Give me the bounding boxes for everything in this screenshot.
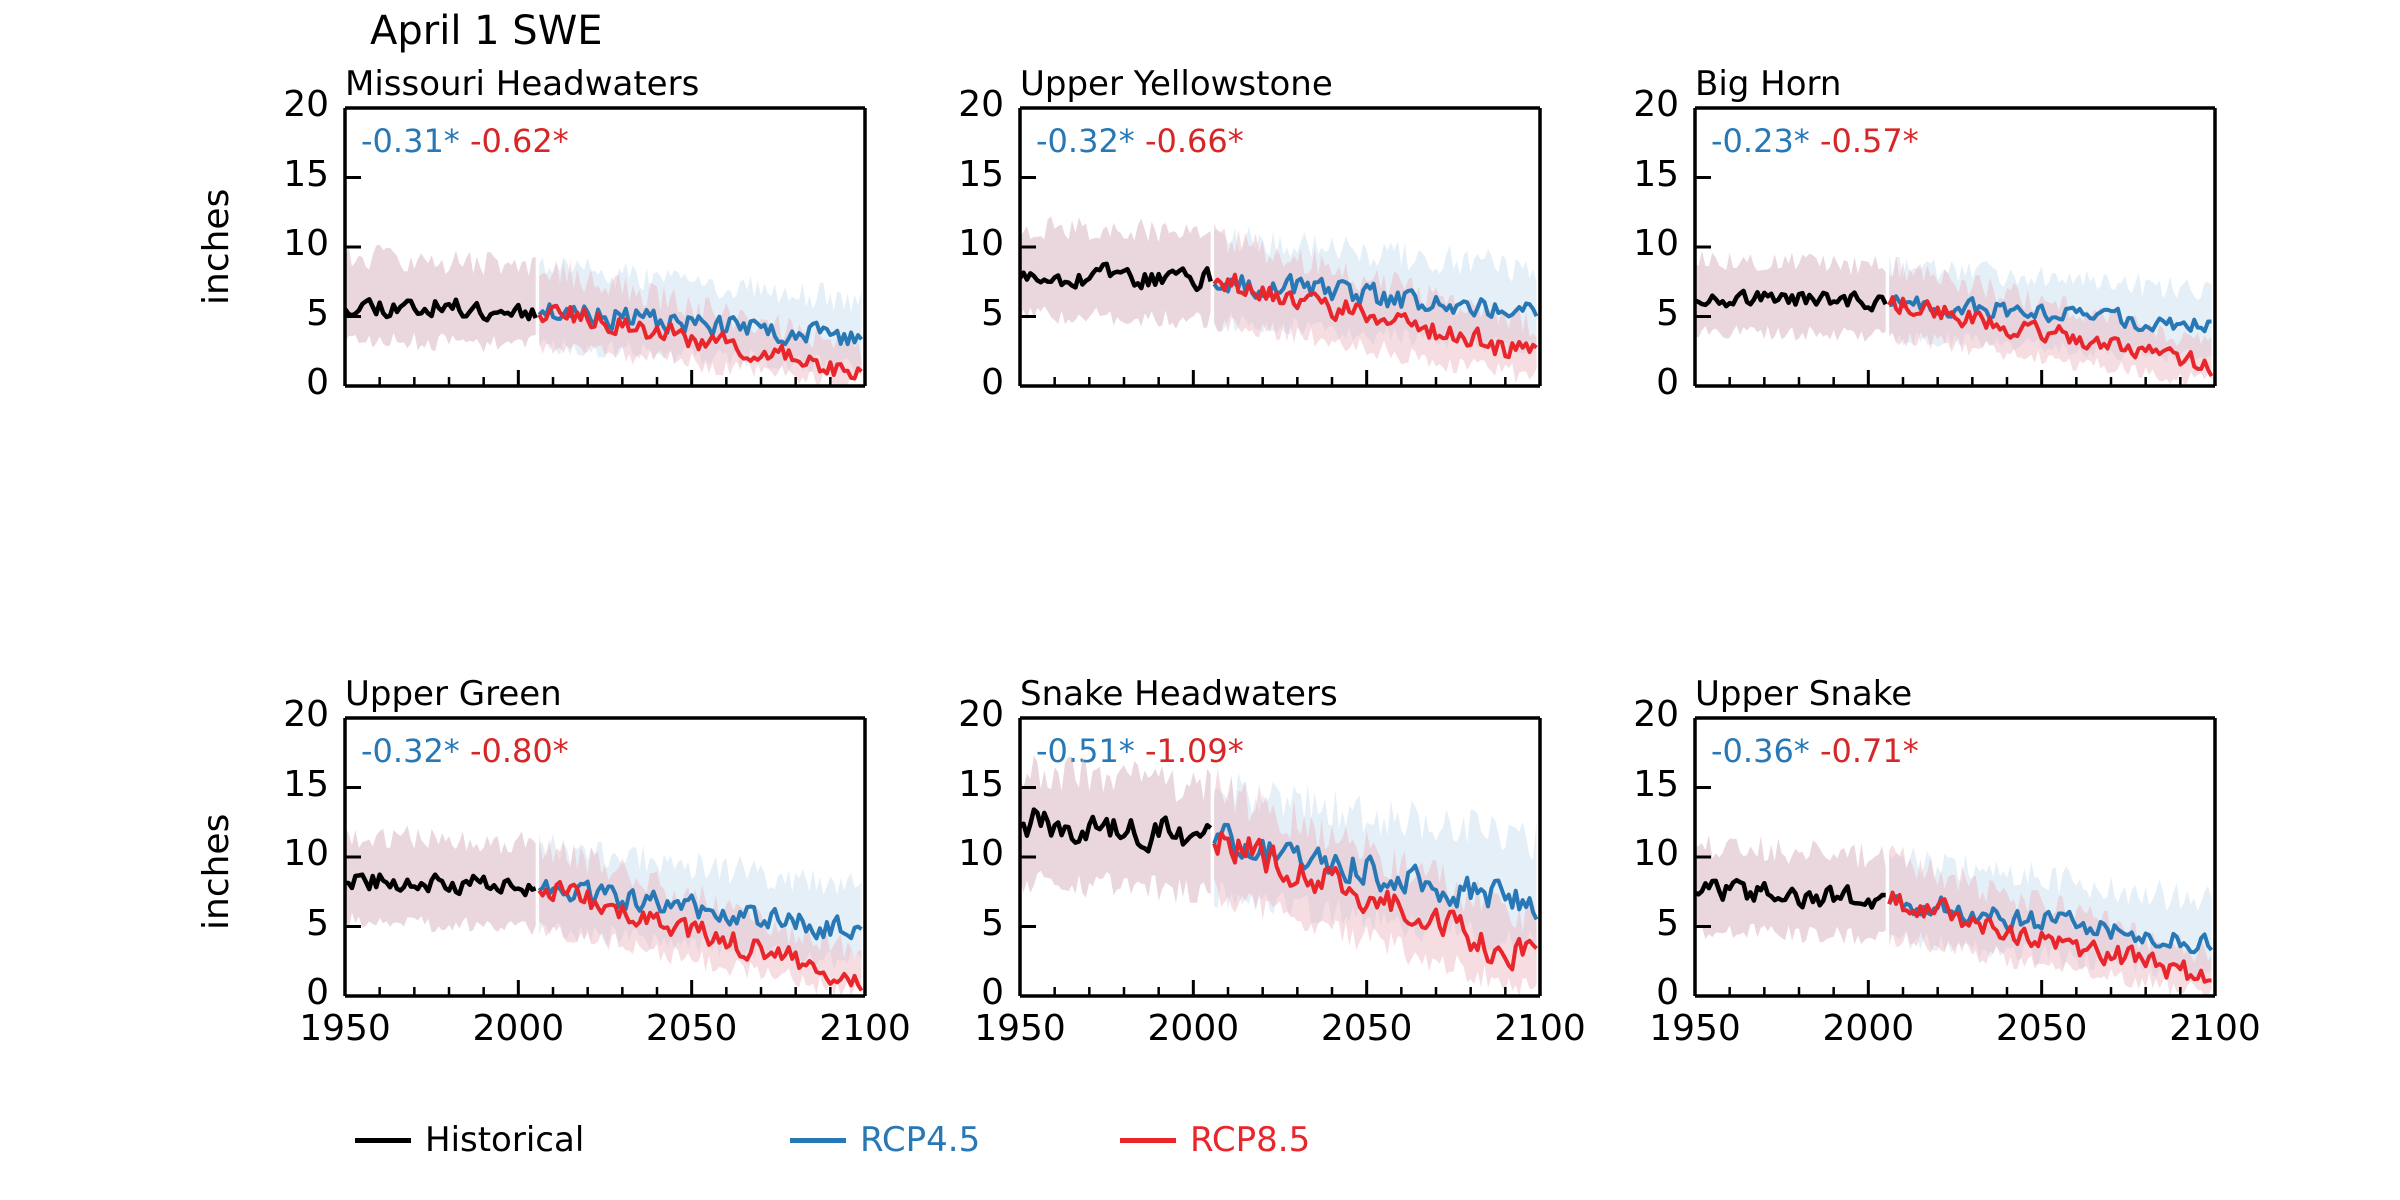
- legend-line-swatch: [790, 1138, 846, 1143]
- legend-label: Historical: [425, 1120, 584, 1160]
- legend: HistoricalRCP4.5RCP8.5: [0, 0, 2400, 1200]
- legend-label: RCP4.5: [860, 1120, 980, 1160]
- legend-historical[interactable]: Historical: [355, 1120, 584, 1160]
- figure-root: April 1 SWE inches inches Missouri Headw…: [0, 0, 2400, 1200]
- legend-label: RCP8.5: [1190, 1120, 1310, 1160]
- legend-line-swatch: [355, 1138, 411, 1143]
- legend-line-swatch: [1120, 1138, 1176, 1143]
- legend-rcp85[interactable]: RCP8.5: [1120, 1120, 1310, 1160]
- legend-rcp45[interactable]: RCP4.5: [790, 1120, 980, 1160]
